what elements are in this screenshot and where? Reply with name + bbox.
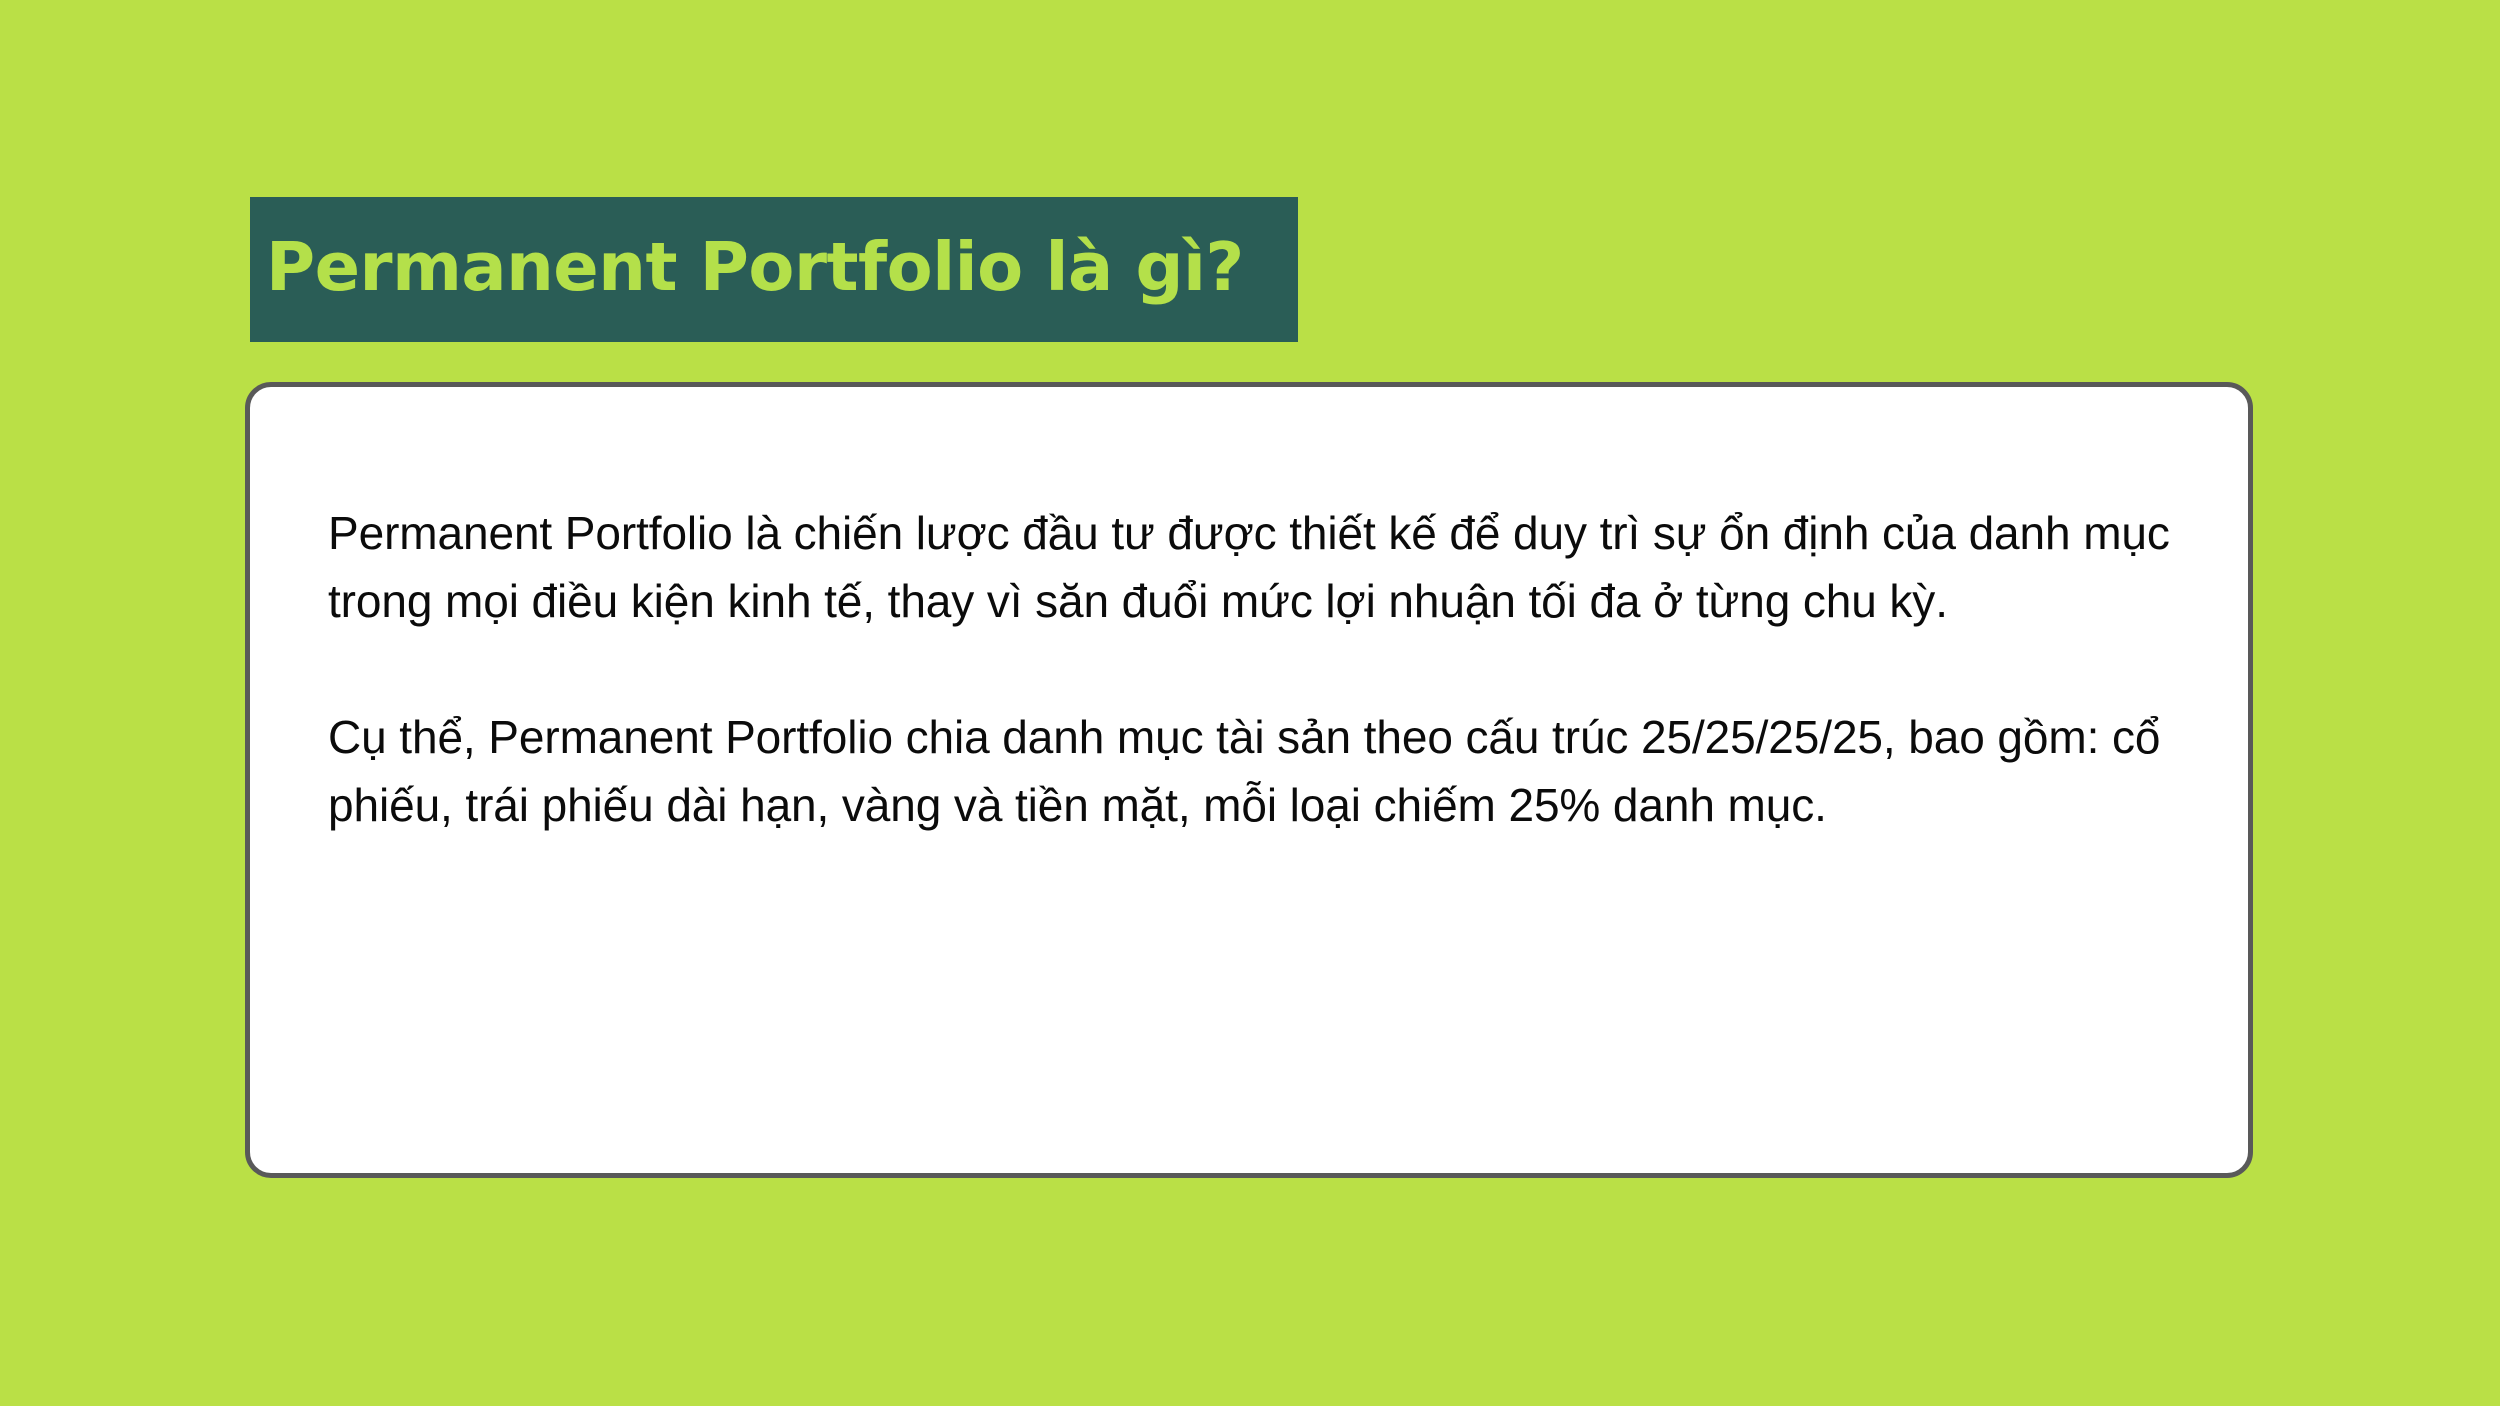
card-body: Permanent Portfolio là chiến lược đầu tư… bbox=[328, 499, 2188, 839]
content-card: Permanent Portfolio là chiến lược đầu tư… bbox=[245, 382, 2253, 1178]
paragraph-definition: Permanent Portfolio là chiến lược đầu tư… bbox=[328, 499, 2188, 635]
paragraph-allocation: Cụ thể, Permanent Portfolio chia danh mụ… bbox=[328, 703, 2188, 839]
page-title: Permanent Portfolio là gì? bbox=[266, 234, 1244, 301]
title-band: Permanent Portfolio là gì? bbox=[250, 197, 1298, 342]
slide-canvas: Permanent Portfolio là gì? Permanent Por… bbox=[0, 0, 2500, 1406]
